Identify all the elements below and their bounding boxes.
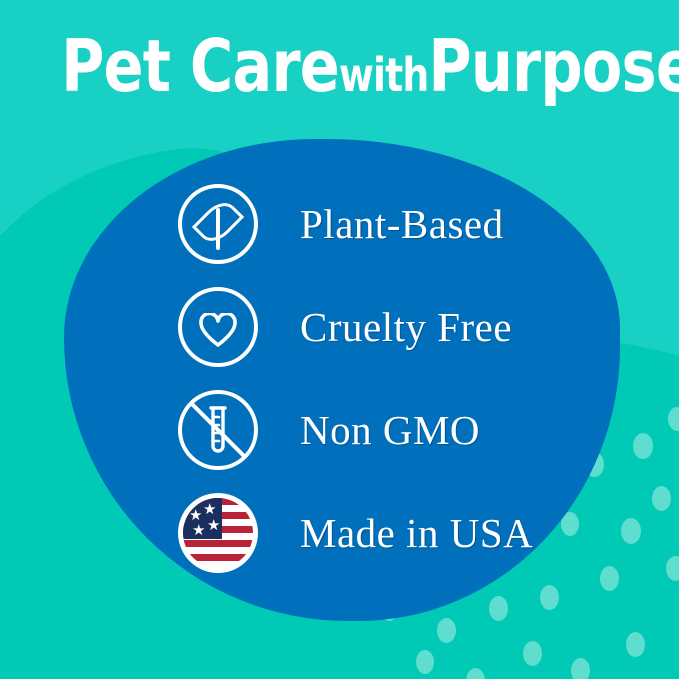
flag-stripe [183, 540, 253, 547]
non-gmo-icon [178, 390, 258, 470]
decorative-dot [523, 641, 542, 666]
decorative-dot [633, 433, 653, 459]
usa-flag-icon: ★ ★ ★ ★ [178, 493, 258, 573]
decorative-dot [668, 407, 679, 431]
feature-list: Plant-Based Cruelty Free Non GMO [178, 184, 608, 596]
feature-row-plant-based: Plant-Based [178, 184, 608, 264]
page-title: Pet CarewithPurpose® [61, 14, 618, 121]
usa-flag-icon-field: ★ ★ ★ ★ [183, 498, 253, 568]
decorative-dot [621, 518, 641, 544]
leaf-icon-stem [216, 208, 220, 250]
title-part-pet-care: Pet Care [61, 24, 339, 108]
heart-icon [178, 287, 258, 367]
feature-row-non-gmo: Non GMO [178, 390, 608, 470]
feature-label-cruelty-free: Cruelty Free [300, 303, 512, 351]
title-part-with: with [339, 48, 428, 102]
feature-label-made-in-usa: Made in USA [300, 509, 533, 557]
flag-star: ★ [189, 508, 202, 523]
decorative-dot [437, 618, 456, 643]
leaf-icon [178, 184, 258, 264]
promo-banner: Pet CarewithPurpose® Plant-Based Cruelty… [0, 0, 679, 679]
flag-star: ★ [192, 523, 205, 538]
decorative-dot [489, 596, 508, 621]
feature-label-plant-based: Plant-Based [300, 200, 504, 248]
decorative-dot [571, 658, 590, 679]
usa-flag-icon-border: ★ ★ ★ ★ [178, 493, 258, 573]
feature-row-cruelty-free: Cruelty Free [178, 287, 608, 367]
flag-star: ★ [207, 518, 220, 533]
decorative-dot [666, 556, 679, 581]
flag-star: ★ [203, 502, 216, 517]
feature-row-made-in-usa: ★ ★ ★ ★ Made in USA [178, 493, 608, 573]
heart-icon-glyph [199, 313, 237, 347]
title-part-purpose: Purpose [428, 24, 679, 108]
feature-label-non-gmo: Non GMO [300, 406, 480, 454]
decorative-dot [652, 486, 671, 511]
flag-canton: ★ ★ ★ ★ [183, 498, 222, 539]
flag-stripe [183, 554, 253, 561]
decorative-dot [416, 650, 434, 674]
decorative-dot [626, 632, 645, 657]
